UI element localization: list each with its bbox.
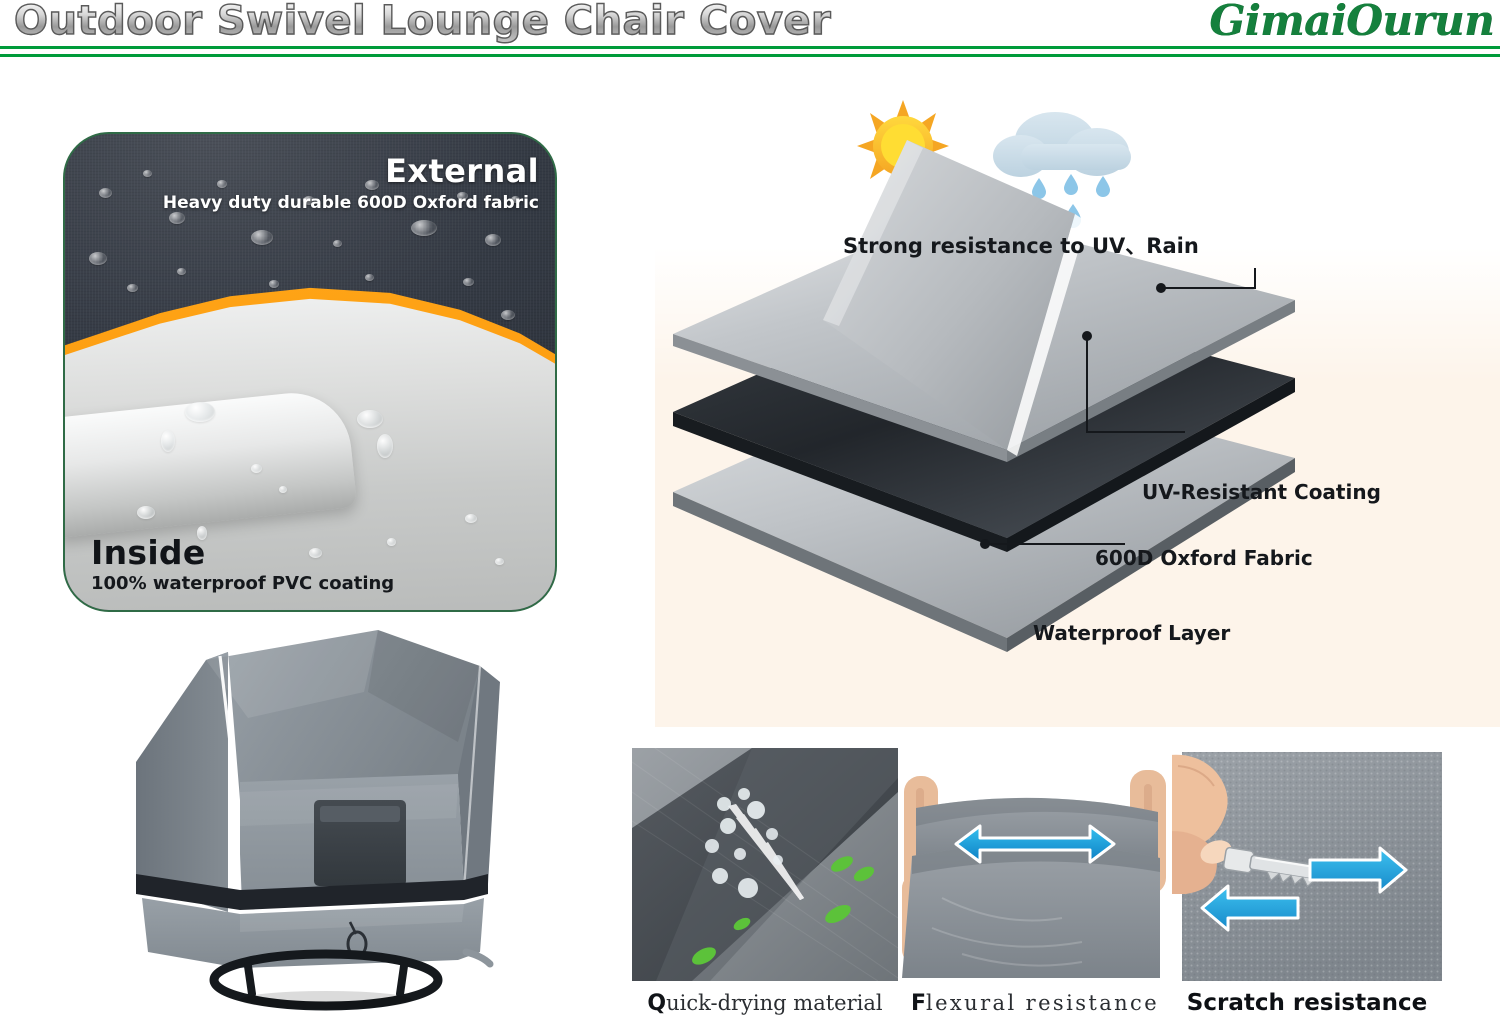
feature-panel-scratch-resistance xyxy=(1172,748,1442,981)
caption-initial: S xyxy=(1187,990,1204,1016)
feature-caption-quick-drying: Quick-drying material xyxy=(632,986,898,1020)
fabric-detail-panel: External Heavy duty durable 600D Oxford … xyxy=(63,132,557,612)
product-image-chair-cover xyxy=(128,622,538,1022)
caption-rest: lexural resistance xyxy=(926,991,1159,1015)
water-droplet xyxy=(251,464,262,473)
water-droplet xyxy=(127,284,138,292)
feature-caption-flexural-resistance: Flexural resistance xyxy=(902,986,1168,1020)
ground-shadow xyxy=(240,991,412,1009)
water-droplet xyxy=(485,234,501,246)
swivel-base-leg xyxy=(248,966,404,994)
water-droplet xyxy=(333,240,342,247)
water-droplet xyxy=(137,506,155,519)
water-droplet xyxy=(501,310,515,320)
water-droplet xyxy=(377,434,393,458)
stretch-hands-icon xyxy=(902,748,1168,981)
caption-rest: cratch resistance xyxy=(1203,990,1427,1016)
water-droplet xyxy=(365,274,374,281)
water-droplet xyxy=(463,278,474,286)
pocket-flap xyxy=(320,806,400,822)
water-droplet xyxy=(465,514,477,523)
water-droplet xyxy=(495,558,504,565)
callout-label-waterproof-layer: Waterproof Layer xyxy=(1033,621,1230,645)
caption-rest: uick-drying material xyxy=(666,991,882,1015)
drawstring-cord xyxy=(466,952,490,964)
external-subtitle: Heavy duty durable 600D Oxford fabric xyxy=(163,193,539,213)
water-droplet xyxy=(89,252,107,265)
water-beading-icon xyxy=(632,748,898,981)
water-droplet xyxy=(177,268,186,275)
uv-rain-caption: Strong resistance to UV、Rain xyxy=(843,230,1199,260)
water-droplet xyxy=(169,212,185,224)
chair-cover-left-side xyxy=(136,652,228,912)
water-droplet xyxy=(357,410,383,428)
feature-panel-quick-drying xyxy=(632,748,898,981)
inside-label-group: Inside 100% waterproof PVC coating xyxy=(91,533,394,594)
page-title: Outdoor Swivel Lounge Chair Cover xyxy=(14,0,831,44)
chair-cover-illustration xyxy=(128,622,538,1022)
water-droplet xyxy=(161,430,175,452)
key-scratch-icon xyxy=(1172,748,1442,981)
callout-label-uv-resistant-coating: UV-Resistant Coating xyxy=(1142,480,1381,504)
water-droplet xyxy=(143,170,152,177)
water-droplet xyxy=(279,486,287,493)
water-droplet xyxy=(185,402,215,422)
external-title: External xyxy=(163,152,539,190)
water-droplet xyxy=(99,188,112,198)
water-droplet xyxy=(411,220,437,236)
feature-panel-flexural-resistance xyxy=(902,748,1168,981)
caption-initial: F xyxy=(911,991,926,1016)
feature-caption-scratch-resistance: Scratch resistance xyxy=(1172,986,1442,1020)
water-droplet xyxy=(251,230,273,245)
inside-title: Inside xyxy=(91,533,394,572)
external-label-group: External Heavy duty durable 600D Oxford … xyxy=(163,152,539,213)
layer-structure-diagram-panel: Strong resistance to UV、Rain UV-Resistan… xyxy=(655,82,1500,727)
page-header: Outdoor Swivel Lounge Chair Cover GimaiO… xyxy=(0,0,1500,58)
header-divider-rule xyxy=(0,46,1500,57)
brand-logo: GimaiOurun xyxy=(1209,0,1494,45)
caption-initial: Q xyxy=(647,991,666,1016)
inside-subtitle: 100% waterproof PVC coating xyxy=(91,573,394,594)
callout-label-oxford-fabric: 600D Oxford Fabric xyxy=(1095,546,1313,570)
water-droplet xyxy=(269,280,279,288)
